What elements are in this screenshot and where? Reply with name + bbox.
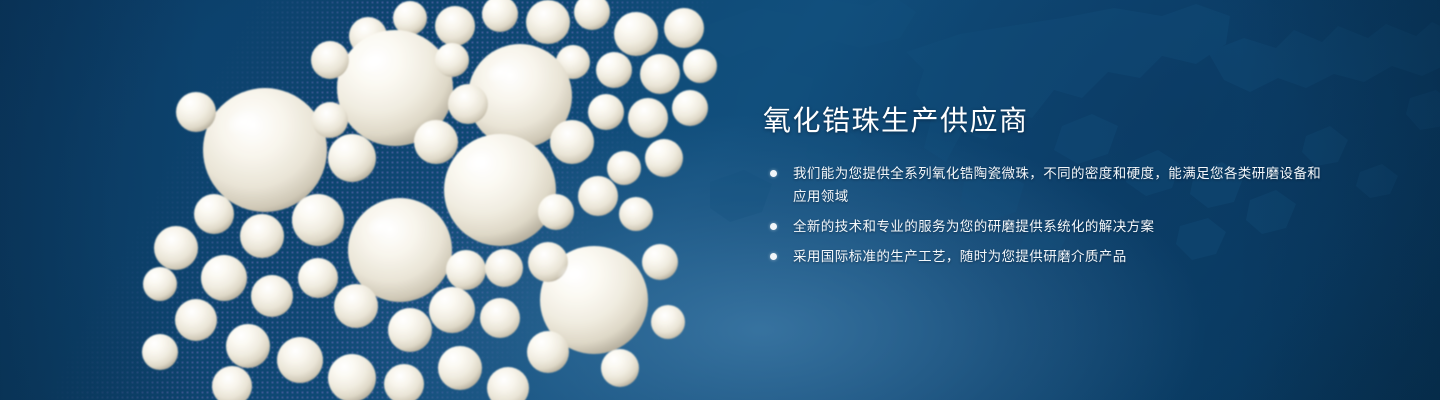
- zirconia-beads-image: [0, 0, 760, 400]
- banner-copy: 氧化锆珠生产供应商 我们能为您提供全系列氧化锆陶瓷微珠，不同的密度和硬度，能满足…: [763, 104, 1323, 275]
- bullet-text: 全新的技术和专业的服务为您的研磨提供系统化的解决方案: [793, 219, 1154, 234]
- promo-banner: 氧化锆珠生产供应商 我们能为您提供全系列氧化锆陶瓷微珠，不同的密度和硬度，能满足…: [0, 0, 1440, 400]
- banner-bullet-list: 我们能为您提供全系列氧化锆陶瓷微珠，不同的密度和硬度，能满足您各类研磨设备和应用…: [763, 162, 1323, 268]
- bullet-dot-icon: [770, 170, 777, 177]
- bullet-dot-icon: [770, 223, 777, 230]
- bullet-dot-icon: [770, 253, 777, 260]
- bullet-text: 采用国际标准的生产工艺，随时为您提供研磨介质产品: [793, 249, 1127, 264]
- bullet-item-2: 全新的技术和专业的服务为您的研磨提供系统化的解决方案: [763, 215, 1323, 238]
- bullet-item-3: 采用国际标准的生产工艺，随时为您提供研磨介质产品: [763, 245, 1323, 268]
- bullet-text: 我们能为您提供全系列氧化锆陶瓷微珠，不同的密度和硬度，能满足您各类研磨设备和应用…: [793, 166, 1321, 204]
- bullet-item-1: 我们能为您提供全系列氧化锆陶瓷微珠，不同的密度和硬度，能满足您各类研磨设备和应用…: [763, 162, 1323, 208]
- banner-headline: 氧化锆珠生产供应商: [763, 104, 1323, 138]
